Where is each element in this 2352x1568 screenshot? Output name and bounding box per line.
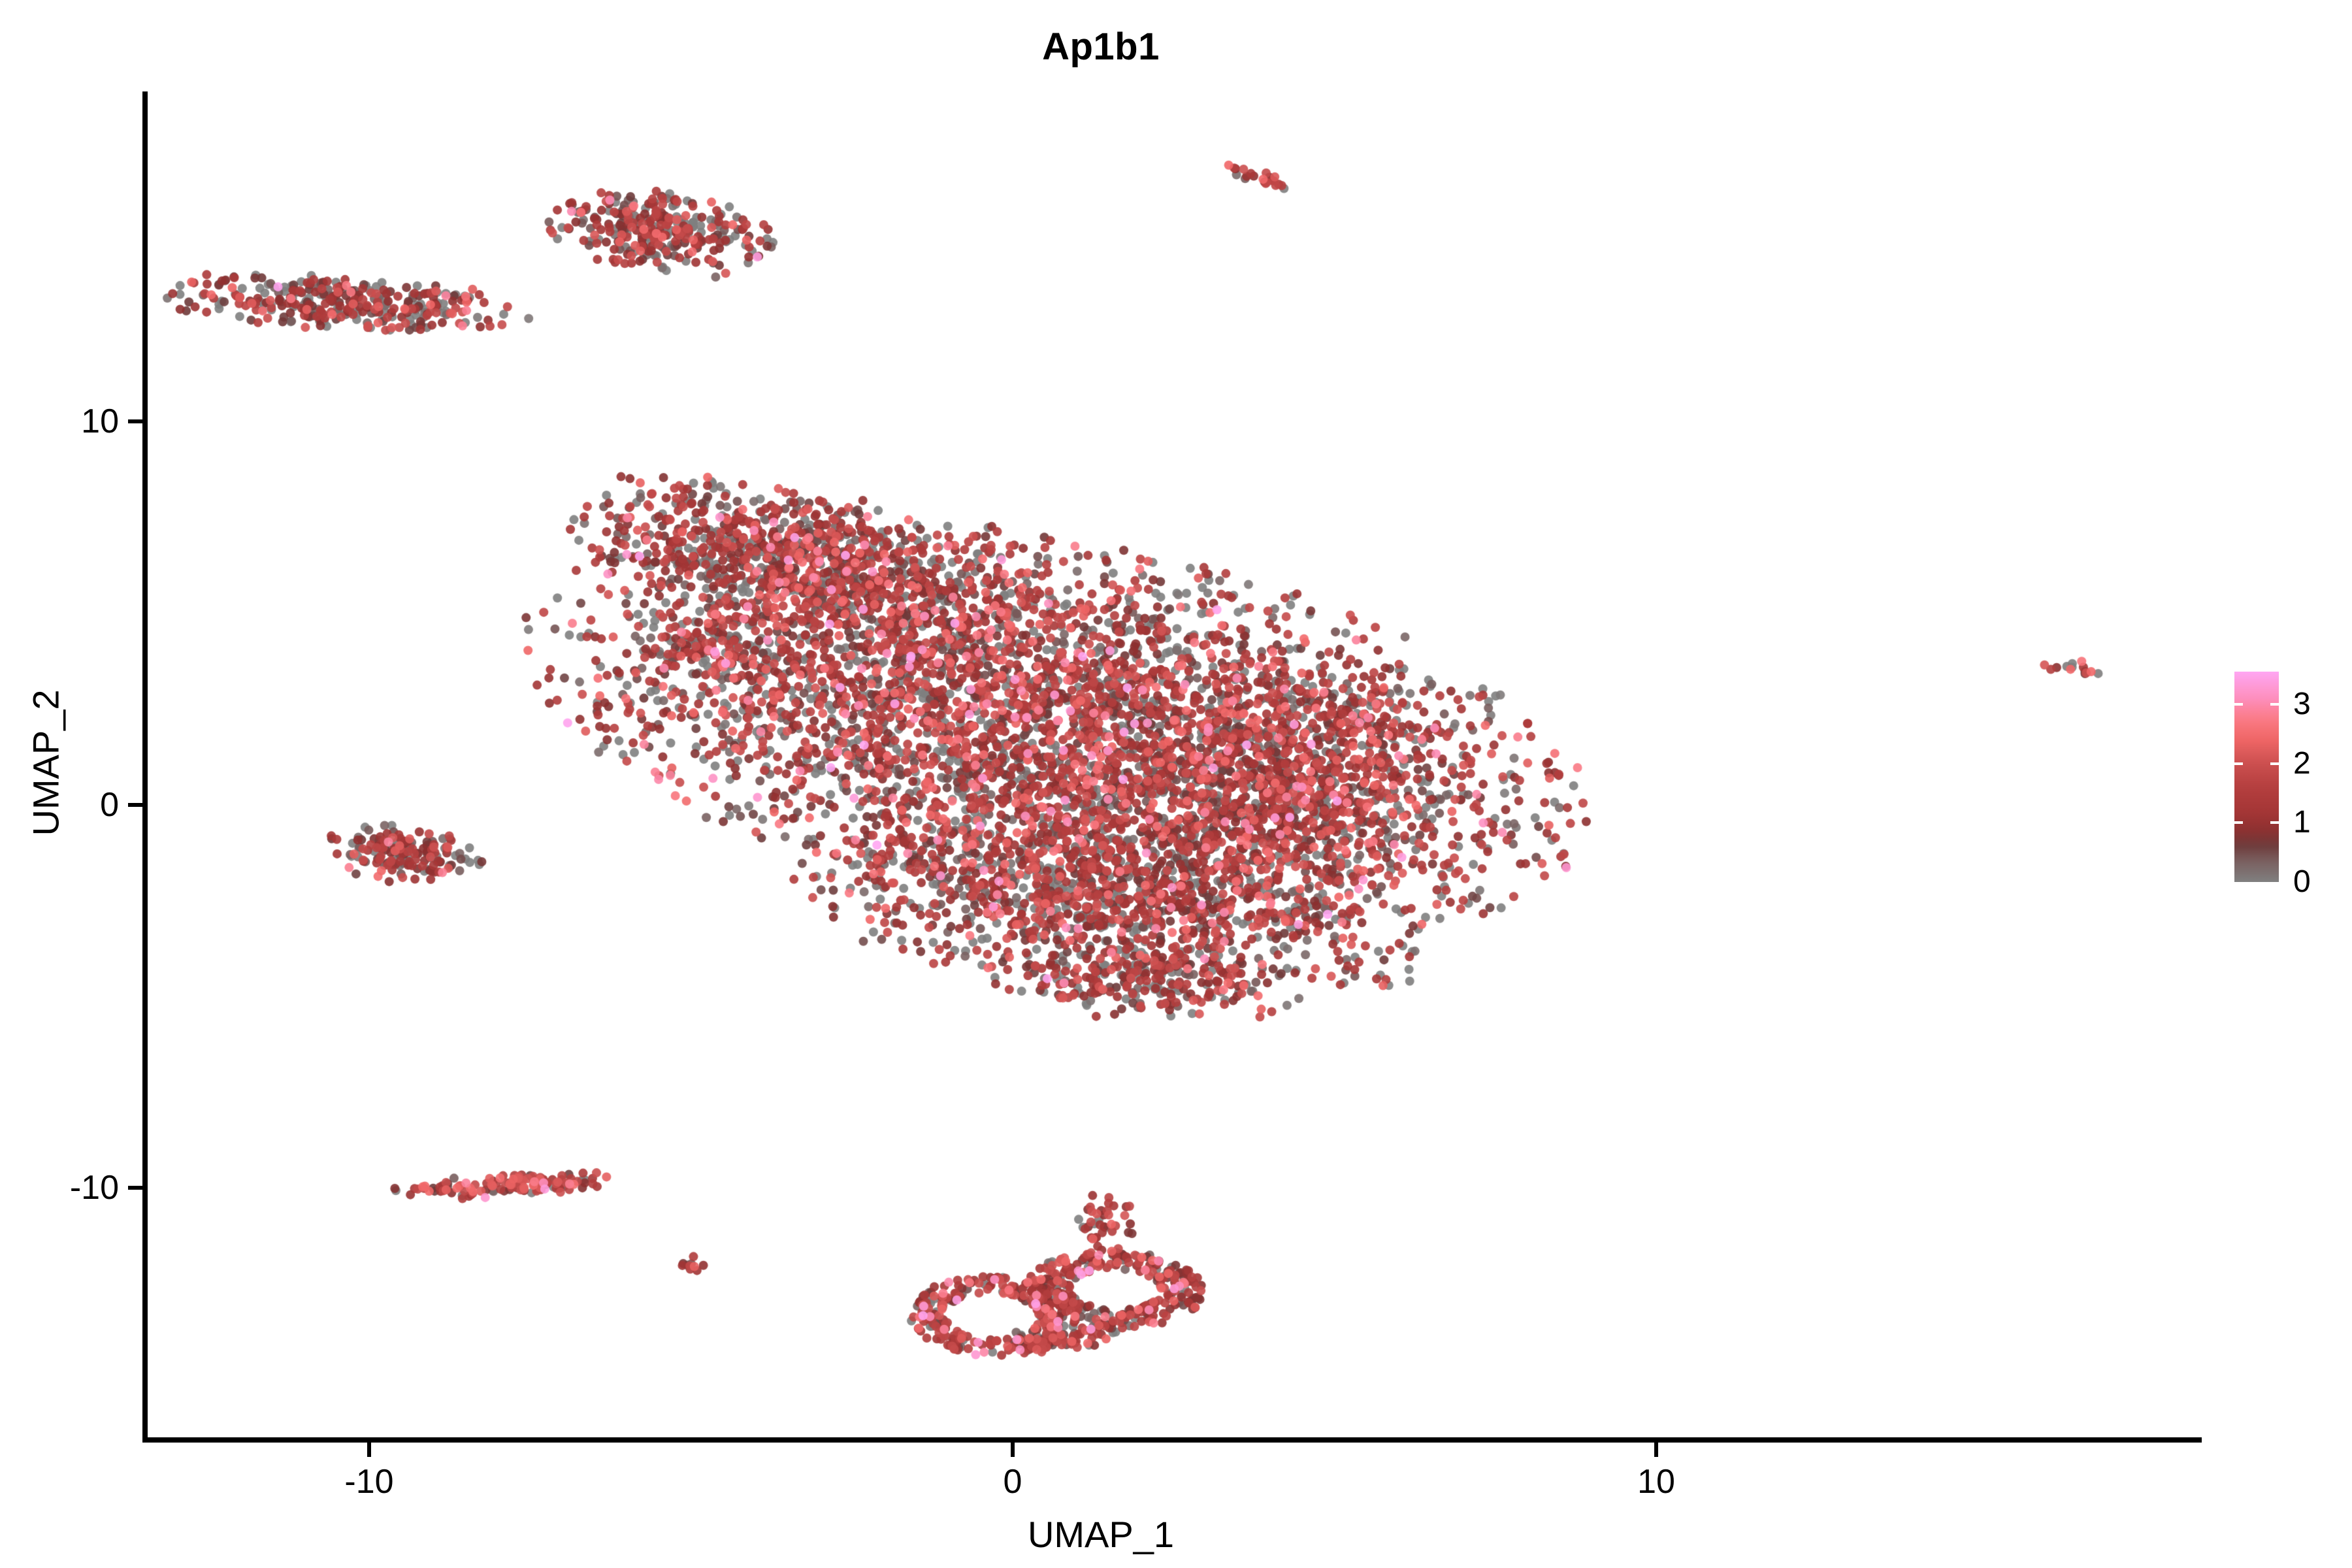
colorbar-tick-mark bbox=[2234, 821, 2243, 824]
y-tick-mark bbox=[128, 419, 142, 423]
colorbar-tick-mark bbox=[2270, 762, 2279, 765]
x-axis-title: UMAP_1 bbox=[0, 1513, 2202, 1556]
x-tick-label: 0 bbox=[1004, 1465, 1022, 1499]
colorbar-label: 3 bbox=[2293, 689, 2311, 720]
scatter-plot-canvas bbox=[145, 91, 2202, 1439]
colorbar-label: 2 bbox=[2293, 748, 2311, 779]
x-tick-mark bbox=[1654, 1443, 1658, 1457]
colorbar-legend: 3210 bbox=[2234, 666, 2345, 889]
plot-panel bbox=[145, 91, 2202, 1439]
y-tick-label: 0 bbox=[100, 788, 119, 822]
colorbar-label: 1 bbox=[2293, 807, 2311, 838]
colorbar-tick-mark bbox=[2234, 762, 2243, 765]
y-tick-label: -10 bbox=[70, 1171, 119, 1205]
colorbar-tick-mark bbox=[2234, 703, 2243, 706]
umap-feature-plot: Ap1b1 -10010 -10010 UMAP_1 UMAP_2 3210 bbox=[0, 0, 2352, 1568]
colorbar-label: 0 bbox=[2293, 866, 2311, 898]
colorbar-tick-mark bbox=[2270, 703, 2279, 706]
x-tick-mark bbox=[1011, 1443, 1015, 1457]
y-tick-mark bbox=[128, 803, 142, 807]
y-tick-mark bbox=[128, 1186, 142, 1190]
page-title: Ap1b1 bbox=[0, 25, 2202, 69]
y-axis-title: UMAP_2 bbox=[25, 436, 67, 1090]
y-axis-line bbox=[142, 91, 148, 1443]
y-tick-label: 10 bbox=[81, 404, 119, 438]
x-tick-label: 10 bbox=[1637, 1465, 1675, 1499]
x-tick-mark bbox=[367, 1443, 371, 1457]
x-tick-label: -10 bbox=[344, 1465, 393, 1499]
x-axis-line bbox=[142, 1437, 2202, 1443]
colorbar-tick-mark bbox=[2270, 821, 2279, 824]
